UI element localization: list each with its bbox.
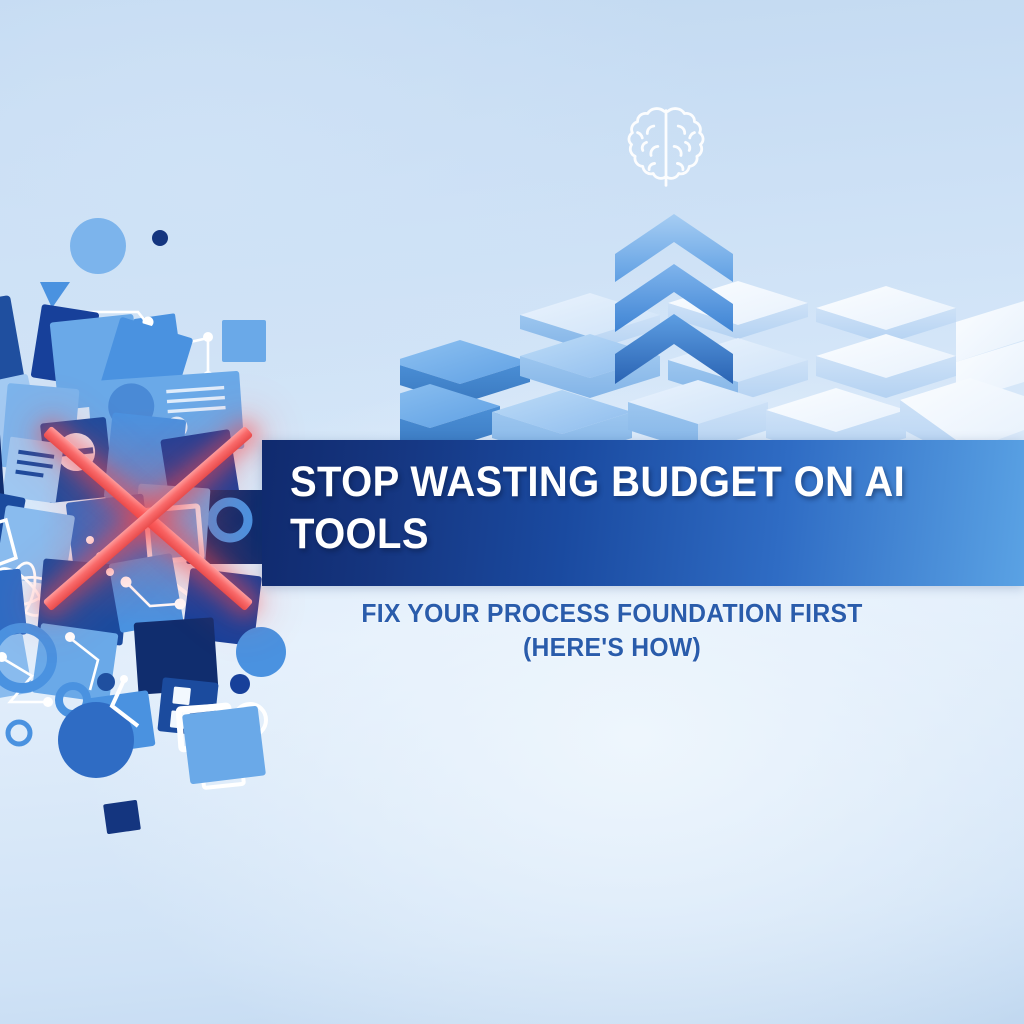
brain-icon bbox=[614, 96, 718, 200]
page-title: STOP WASTING BUDGET ON AI TOOLS bbox=[290, 456, 941, 560]
subtitle-line-2: (HERE'S HOW) bbox=[280, 630, 945, 664]
subtitle-line-1: FIX YOUR PROCESS FOUNDATION FIRST bbox=[280, 596, 945, 630]
subtitle-block: FIX YOUR PROCESS FOUNDATION FIRST (HERE'… bbox=[280, 596, 945, 664]
brain-icon-svg bbox=[614, 96, 718, 200]
connector-node bbox=[120, 675, 128, 683]
red-x-strike bbox=[20, 390, 276, 646]
shape-square bbox=[222, 320, 266, 362]
shape-ring bbox=[8, 722, 30, 744]
shape-dot bbox=[97, 673, 115, 691]
upward-chevron-stack bbox=[612, 212, 736, 380]
shape-triangle bbox=[40, 282, 70, 308]
chevron-stack-svg bbox=[612, 212, 736, 388]
shape-skyblue-tilted bbox=[182, 706, 266, 785]
connector-node bbox=[203, 332, 213, 342]
poster-canvas: STOP WASTING BUDGET ON AI TOOLS FIX YOUR… bbox=[0, 0, 1024, 1024]
headline-banner: STOP WASTING BUDGET ON AI TOOLS bbox=[262, 440, 1024, 586]
shape-dot bbox=[152, 230, 168, 246]
chevron-bottom bbox=[615, 314, 733, 384]
shape-navy-square bbox=[103, 800, 141, 834]
shape-circle bbox=[70, 218, 126, 274]
